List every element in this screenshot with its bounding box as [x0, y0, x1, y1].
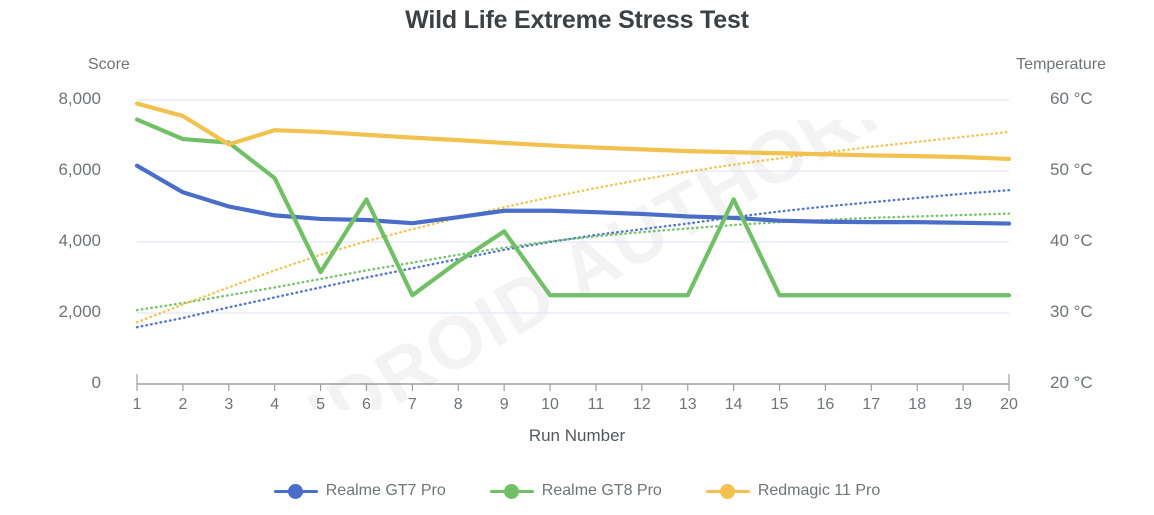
legend-item[interactable]: Realme GT8 Pro — [490, 482, 662, 500]
plot-svg — [137, 100, 1009, 384]
x-axis-tick-label: 6 — [346, 396, 386, 414]
right-axis-tick-label: 40 °C — [1050, 231, 1093, 251]
x-axis-tick-label: 4 — [255, 396, 295, 414]
x-axis-tick-label: 13 — [668, 396, 708, 414]
right-axis-tick-label: 30 °C — [1050, 302, 1093, 322]
x-axis-tick-label: 9 — [484, 396, 524, 414]
x-axis-tick-label: 17 — [851, 396, 891, 414]
x-axis-title: Run Number — [0, 426, 1154, 446]
legend-label: Realme GT7 Pro — [326, 482, 446, 500]
series-line — [137, 104, 1009, 159]
chart-title: Wild Life Extreme Stress Test — [0, 6, 1154, 35]
legend-marker-icon — [274, 483, 318, 499]
left-axis-tick-label: 6,000 — [58, 160, 101, 180]
right-axis-label: Temperature — [1016, 56, 1106, 74]
x-axis-tick-label: 18 — [897, 396, 937, 414]
left-axis-tick-label: 8,000 — [58, 89, 101, 109]
legend-marker-icon — [706, 483, 750, 499]
x-axis-tick-label: 11 — [576, 396, 616, 414]
legend-label: Redmagic 11 Pro — [758, 482, 880, 500]
legend-item[interactable]: Redmagic 11 Pro — [706, 482, 880, 500]
x-axis-tick-label: 12 — [622, 396, 662, 414]
x-axis-tick-label: 16 — [805, 396, 845, 414]
legend-item[interactable]: Realme GT7 Pro — [274, 482, 446, 500]
legend-marker-icon — [490, 483, 534, 499]
x-axis-tick-label: 2 — [163, 396, 203, 414]
chart-legend: Realme GT7 ProRealme GT8 ProRedmagic 11 … — [0, 482, 1154, 500]
legend-label: Realme GT8 Pro — [542, 482, 662, 500]
right-axis-tick-label: 20 °C — [1050, 373, 1093, 393]
x-axis-tick-label: 1 — [117, 396, 157, 414]
x-axis-tick-label: 7 — [392, 396, 432, 414]
x-axis-tick-label: 15 — [760, 396, 800, 414]
x-axis-tick-label: 3 — [209, 396, 249, 414]
x-axis-tick-label: 10 — [530, 396, 570, 414]
left-axis-tick-label: 0 — [92, 373, 101, 393]
x-axis-tick-label: 5 — [301, 396, 341, 414]
x-axis-tick-label: 20 — [989, 396, 1029, 414]
x-axis-tick-label: 19 — [943, 396, 983, 414]
right-axis-tick-label: 50 °C — [1050, 160, 1093, 180]
x-axis-tick-label: 14 — [714, 396, 754, 414]
chart-container: Wild Life Extreme Stress Test Score Temp… — [0, 0, 1154, 515]
left-axis-tick-label: 4,000 — [58, 231, 101, 251]
x-axis-tick-label: 8 — [438, 396, 478, 414]
right-axis-tick-label: 60 °C — [1050, 89, 1093, 109]
left-axis-label: Score — [88, 56, 130, 74]
plot-area — [137, 100, 1009, 384]
left-axis-tick-label: 2,000 — [58, 302, 101, 322]
